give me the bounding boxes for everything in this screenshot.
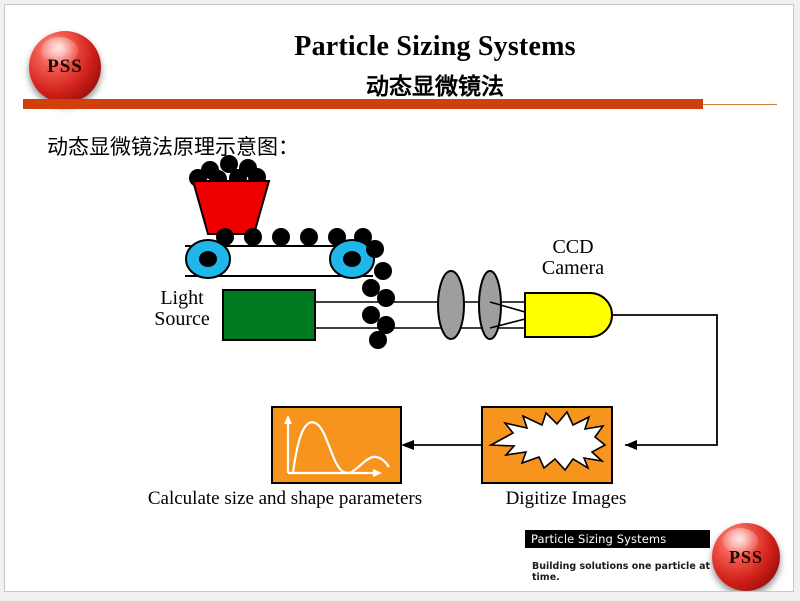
light-source-box [223, 290, 315, 340]
header-logo-label: PSS [47, 56, 83, 78]
label-ccd-line2: Camera [518, 258, 628, 279]
label-light-source: Light Source [137, 288, 227, 330]
lens-first [438, 271, 464, 339]
signal-wire [612, 315, 717, 445]
footer-tagline: Building solutions one particle at a tim… [532, 561, 732, 583]
caption-digitize: Digitize Images [471, 489, 661, 509]
calculate-box [272, 407, 401, 483]
label-light-source-line1: Light [137, 288, 227, 309]
conveyor-roller-left [186, 240, 230, 278]
label-light-source-line2: Source [137, 309, 227, 330]
footer-brand-text: Particle Sizing Systems [525, 530, 710, 546]
footer-brand-bar: Particle Sizing Systems [525, 530, 710, 548]
wire-arrowhead [625, 440, 637, 450]
label-ccd-line1: CCD [518, 237, 628, 258]
label-ccd-camera: CCD Camera [518, 237, 628, 279]
ccd-camera-body [525, 293, 612, 337]
footer-logo-label: PSS [729, 547, 763, 568]
footer-pss-logo: PSS [712, 523, 780, 591]
digitize-to-calculate-arrowhead [401, 440, 414, 450]
hopper-shape [193, 181, 269, 234]
slide-canvas: PSS Particle Sizing Systems 动态显微镜法 动态显微镜… [4, 4, 794, 592]
caption-calculate: Calculate size and shape parameters [115, 489, 455, 509]
